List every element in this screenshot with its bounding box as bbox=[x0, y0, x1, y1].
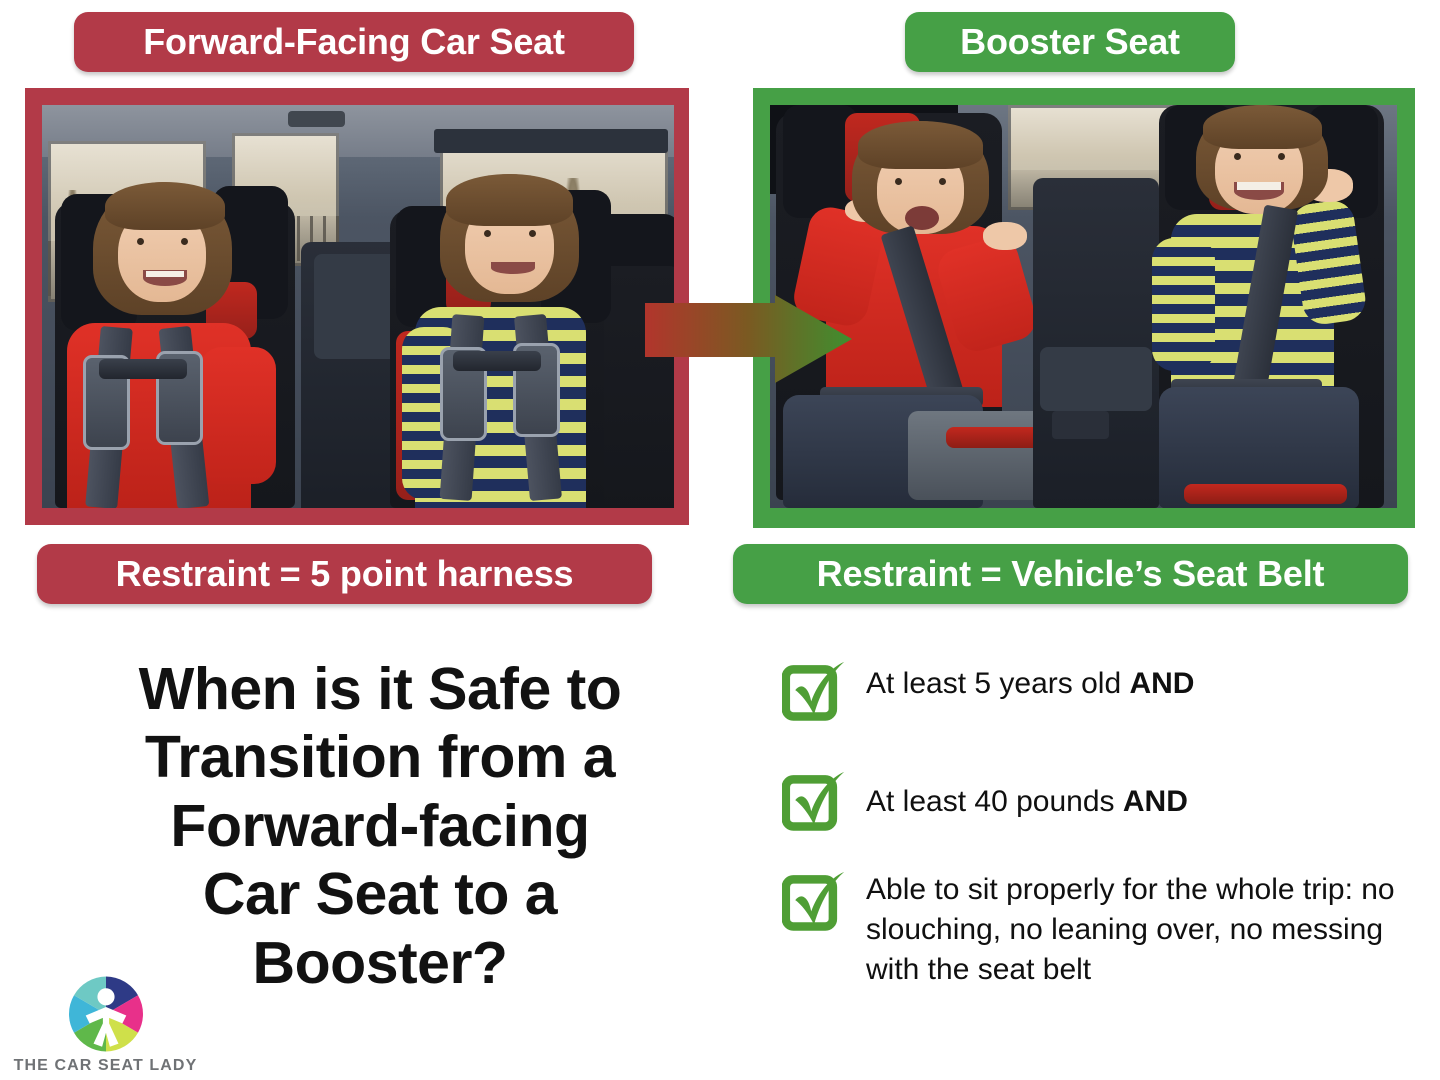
green-checkbox-icon bbox=[782, 770, 848, 834]
forward-facing-caption-text: Restraint = 5 point harness bbox=[116, 556, 574, 592]
dome-light bbox=[288, 111, 345, 127]
child-right-chest-clip bbox=[453, 351, 541, 371]
booster-child-right-bangs bbox=[1203, 105, 1322, 149]
booster-buckle bbox=[1052, 411, 1108, 439]
list-item-text: At least 5 years old AND bbox=[866, 660, 1194, 704]
child-right-eye-r bbox=[529, 230, 536, 237]
green-checkbox-icon bbox=[782, 660, 848, 724]
list-item-label: Able to sit properly for the whole trip:… bbox=[866, 873, 1395, 986]
transition-arrow-icon bbox=[645, 295, 852, 383]
forward-facing-title-badge: Forward-Facing Car Seat bbox=[74, 12, 634, 72]
page-title: When is it Safe to Transition from a For… bbox=[60, 655, 700, 997]
list-item-label: At least 5 years old bbox=[866, 667, 1129, 700]
list-item: At least 40 pounds AND bbox=[782, 760, 1422, 834]
child-left-chest-clip bbox=[99, 359, 187, 379]
list-item: Able to sit properly for the whole trip:… bbox=[782, 870, 1422, 990]
child-right-bangs bbox=[446, 174, 572, 226]
list-item: At least 5 years old AND bbox=[782, 660, 1422, 724]
list-item-emphasis: AND bbox=[1129, 667, 1194, 700]
forward-facing-photo bbox=[42, 105, 674, 508]
page-title-line: Forward-facing bbox=[60, 792, 700, 860]
booster-caption-badge: Restraint = Vehicle’s Seat Belt bbox=[733, 544, 1408, 604]
booster-right-base-edge bbox=[1184, 484, 1347, 504]
page-title-line: Transition from a bbox=[60, 723, 700, 791]
booster-photo-frame bbox=[753, 88, 1415, 528]
list-item-label: At least 40 pounds bbox=[866, 785, 1123, 818]
booster-photo bbox=[770, 105, 1397, 508]
child-left-eye-r bbox=[181, 238, 188, 245]
booster-child-left-eye-l bbox=[895, 178, 902, 185]
page-title-line: When is it Safe to bbox=[60, 655, 700, 723]
booster-child-right-teeth bbox=[1237, 182, 1281, 189]
forward-facing-caption-badge: Restraint = 5 point harness bbox=[37, 544, 652, 604]
list-item-text: At least 40 pounds AND bbox=[866, 760, 1188, 822]
booster-caption-text: Restraint = Vehicle’s Seat Belt bbox=[817, 556, 1325, 592]
booster-child-left-eye-r bbox=[939, 178, 946, 185]
booster-child-right-arm-l bbox=[1152, 238, 1215, 371]
forward-facing-photo-frame bbox=[25, 88, 689, 525]
child-left-arm bbox=[200, 347, 276, 484]
list-item-emphasis: AND bbox=[1123, 785, 1188, 818]
booster-readiness-checklist: At least 5 years old AND At least 40 pou… bbox=[782, 660, 1422, 1026]
booster-child-left-bangs bbox=[858, 121, 983, 169]
car-seat-lady-logo-icon bbox=[67, 975, 145, 1053]
booster-child-left-hand-r bbox=[983, 222, 1027, 250]
transition-arrow bbox=[645, 295, 852, 383]
booster-center-console bbox=[1033, 178, 1158, 508]
child-left-bangs bbox=[105, 182, 225, 230]
forward-facing-title-text: Forward-Facing Car Seat bbox=[143, 24, 565, 60]
brand-logo: THE CAR SEAT LADY bbox=[8, 975, 203, 1075]
page-title-line: Car Seat to a bbox=[60, 860, 700, 928]
green-checkbox-icon bbox=[782, 870, 848, 934]
child-left-teeth bbox=[146, 271, 184, 277]
brand-wordmark: THE CAR SEAT LADY bbox=[8, 1057, 203, 1075]
booster-title-text: Booster Seat bbox=[960, 24, 1180, 60]
rear-deck-shade bbox=[434, 129, 668, 153]
booster-center-armrest bbox=[1040, 347, 1153, 411]
list-item-text: Able to sit properly for the whole trip:… bbox=[866, 870, 1422, 990]
child-left-eye-l bbox=[137, 238, 144, 245]
booster-title-badge: Booster Seat bbox=[905, 12, 1235, 72]
booster-left-base bbox=[908, 411, 1046, 500]
